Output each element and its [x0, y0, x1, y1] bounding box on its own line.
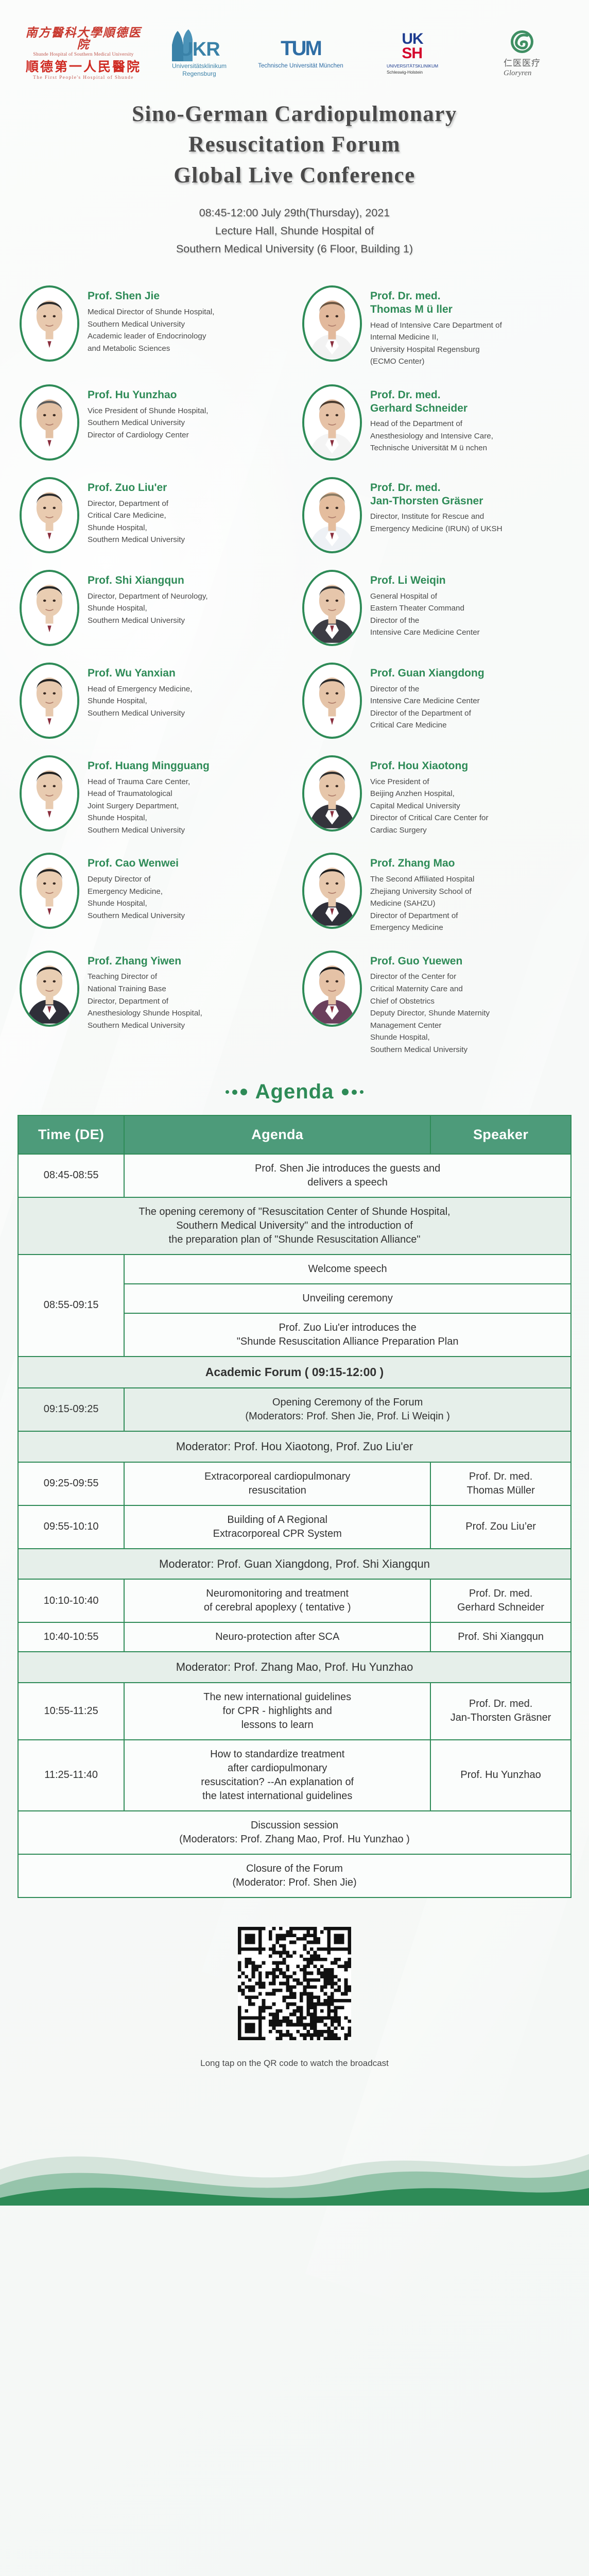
speaker-affiliation: The Second Affiliated Hospital Zhejiang …	[370, 873, 576, 934]
agenda-full-text: Closure of the Forum (Moderator: Prof. S…	[18, 1854, 571, 1897]
agenda-row-speaker: Prof. Hu Yunzhao	[430, 1740, 571, 1811]
ukr-logo: UKR Universitätsklinikum Regensburg	[161, 29, 238, 78]
speaker-card: Prof. Li WeiqinGeneral Hospital of Easte…	[302, 565, 576, 657]
agenda-row-time: 10:40-10:55	[18, 1622, 124, 1652]
speaker-card: Prof. Guan XiangdongDirector of the Inte…	[302, 657, 576, 750]
speaker-card: Prof. Zhang YiwenTeaching Director of Na…	[20, 945, 293, 1067]
agenda-heading: Agenda	[0, 1067, 589, 1115]
agenda-col-time: Time (DE)	[18, 1115, 124, 1154]
speaker-info: Prof. Hu YunzhaoVice President of Shunde…	[88, 384, 293, 441]
agenda-row-topic: Extracorporeal cardiopulmonary resuscita…	[124, 1462, 430, 1505]
speaker-avatar	[20, 853, 79, 929]
qr-section: Long tap on the QR code to watch the bro…	[0, 1898, 589, 2074]
conference-poster: 南方醫科大學順德医院 Shunde Hospital of Southern M…	[0, 0, 589, 2576]
speaker-info: Prof. Dr. med. Gerhard SchneiderHead of …	[370, 384, 576, 454]
agenda-full-row: Closure of the Forum (Moderator: Prof. S…	[18, 1854, 571, 1897]
agenda-row: 09:55-10:10Building of A Regional Extrac…	[18, 1505, 571, 1549]
agenda-row: 09:15-09:25Opening Ceremony of the Forum…	[18, 1388, 571, 1431]
uksh-logo-words: UNIVERSITÄTSKLINIKUM Schleswig-Holstein	[387, 63, 438, 75]
agenda-section-title: Academic Forum ( 09:15-12:00 )	[18, 1357, 571, 1388]
ukr-logo-subtitle: Universitätsklinikum Regensburg	[172, 62, 227, 78]
agenda-moderator-row: Moderator: Prof. Hou Xiaotong, Prof. Zuo…	[18, 1431, 571, 1462]
event-venue-line1: Lecture Hall, Shunde Hospital of	[15, 222, 574, 240]
speaker-info: Prof. Li WeiqinGeneral Hospital of Easte…	[370, 570, 576, 639]
speaker-name: Prof. Zhang Yiwen	[88, 955, 293, 968]
poster-title: Sino-German Cardiopulmonary Resuscitatio…	[0, 90, 589, 191]
speaker-affiliation: Director, Department of Neurology, Shund…	[88, 590, 293, 627]
gloryren-swirl-icon	[510, 29, 534, 54]
agenda-full-text: The opening ceremony of "Resuscitation C…	[18, 1197, 571, 1255]
sponsor-logo-bar: 南方醫科大學順德医院 Shunde Hospital of Southern M…	[0, 0, 589, 90]
speaker-avatar	[20, 663, 79, 739]
agenda-row-time: 10:10-10:40	[18, 1579, 124, 1622]
speaker-affiliation: Deputy Director of Emergency Medicine, S…	[88, 873, 293, 922]
agenda-row-speaker: Prof. Dr. med. Jan-Thorsten Gräsner	[430, 1683, 571, 1740]
agenda-row-topic: Neuro-protection after SCA	[124, 1622, 430, 1652]
speaker-name: Prof. Guo Yuewen	[370, 955, 576, 968]
agenda-row: 11:25-11:40How to standardize treatment …	[18, 1740, 571, 1811]
title-line-3: Global Live Conference	[15, 160, 574, 191]
agenda-row-topic: Opening Ceremony of the Forum (Moderator…	[124, 1388, 571, 1431]
speaker-card: Prof. Hou XiaotongVice President of Beij…	[302, 750, 576, 848]
speaker-avatar	[20, 570, 79, 646]
agenda-row-topic: Welcome speech	[124, 1255, 571, 1284]
agenda-row-speaker: Prof. Dr. med. Gerhard Schneider	[430, 1579, 571, 1622]
agenda-group-row: 08:55-09:15Welcome speech	[18, 1255, 571, 1284]
speaker-avatar	[302, 384, 362, 461]
speaker-affiliation: Head of the Department of Anesthesiology…	[370, 418, 576, 454]
agenda-row-speaker: Prof. Dr. med. Thomas Müller	[430, 1462, 571, 1505]
agenda-moderator-text: Moderator: Prof. Hou Xiaotong, Prof. Zuo…	[18, 1431, 571, 1462]
tum-logo-subtitle: Technische Universität München	[258, 63, 343, 69]
agenda-row: 10:10-10:40Neuromonitoring and treatment…	[18, 1579, 571, 1622]
speaker-affiliation: Director of the Intensive Care Medicine …	[370, 683, 576, 732]
uksh-logo-word1: UNIVERSITÄTSKLINIKUM	[387, 63, 438, 69]
agenda-section-row: Academic Forum ( 09:15-12:00 )	[18, 1357, 571, 1388]
agenda-dots-right-icon	[342, 1089, 363, 1095]
event-venue-line2: Southern Medical University (6 Floor, Bu…	[15, 240, 574, 258]
agenda-full-text: Discussion session (Moderators: Prof. Zh…	[18, 1811, 571, 1854]
agenda-row: 10:55-11:25The new international guideli…	[18, 1683, 571, 1740]
speaker-affiliation: Vice President of Shunde Hospital, South…	[88, 405, 293, 442]
speaker-affiliation: Director, Institute for Rescue and Emerg…	[370, 511, 576, 535]
tum-logo: TUM Technische Universität München	[255, 38, 346, 69]
uksh-logo-letters: UK SH	[402, 32, 423, 60]
speaker-avatar	[302, 951, 362, 1027]
speaker-name: Prof. Hou Xiaotong	[370, 759, 576, 773]
speaker-grid: Prof. Shen JieMedical Director of Shunde…	[0, 262, 589, 1067]
speaker-name: Prof. Hu Yunzhao	[88, 388, 293, 402]
agenda-row-time: 09:25-09:55	[18, 1462, 124, 1505]
speaker-affiliation: Vice President of Beijing Anzhen Hospita…	[370, 776, 576, 837]
speaker-info: Prof. Shi XiangqunDirector, Department o…	[88, 570, 293, 626]
speaker-affiliation: Teaching Director of National Training B…	[88, 971, 293, 1031]
speaker-info: Prof. Guo YuewenDirector of the Center f…	[370, 951, 576, 1056]
speaker-avatar	[20, 384, 79, 461]
agenda-moderator-row: Moderator: Prof. Zhang Mao, Prof. Hu Yun…	[18, 1652, 571, 1683]
agenda-row-topic: Unveiling ceremony	[124, 1284, 571, 1313]
speaker-avatar	[20, 477, 79, 553]
agenda-row-speaker: Prof. Shi Xiangqun	[430, 1622, 571, 1652]
speaker-name: Prof. Dr. med. Thomas M ü ller	[370, 290, 576, 316]
speaker-name: Prof. Dr. med. Gerhard Schneider	[370, 388, 576, 415]
agenda-row: 09:25-09:55Extracorporeal cardiopulmonar…	[18, 1462, 571, 1505]
agenda-row-time: 09:15-09:25	[18, 1388, 124, 1431]
speaker-name: Prof. Shi Xiangqun	[88, 574, 293, 587]
speaker-name: Prof. Zuo Liu'er	[88, 481, 293, 495]
title-line-1: Sino-German Cardiopulmonary	[15, 99, 574, 129]
speaker-name: Prof. Huang Mingguang	[88, 759, 293, 773]
agenda-header-row: Time (DE) Agenda Speaker	[18, 1115, 571, 1154]
speaker-affiliation: Head of Emergency Medicine, Shunde Hospi…	[88, 683, 293, 720]
smu-logo-chinese-line1: 南方醫科大學順德医院	[24, 27, 143, 50]
agenda-table: Time (DE) Agenda Speaker 08:45-08:55Prof…	[18, 1115, 571, 1898]
speaker-avatar	[302, 477, 362, 553]
speaker-avatar	[302, 570, 362, 646]
speaker-info: Prof. Hou XiaotongVice President of Beij…	[370, 755, 576, 836]
uksh-logo-sh: SH	[402, 46, 423, 61]
agenda-moderator-row: Moderator: Prof. Guan Xiangdong, Prof. S…	[18, 1549, 571, 1580]
speaker-info: Prof. Guan XiangdongDirector of the Inte…	[370, 663, 576, 732]
event-datetime: 08:45-12:00 July 29th(Thursday), 2021	[15, 204, 574, 222]
uksh-logo-uk: UK	[402, 32, 423, 46]
agenda-table-body: 08:45-08:55Prof. Shen Jie introduces the…	[18, 1154, 571, 1897]
agenda-row-topic: The new international guidelines for CPR…	[124, 1683, 430, 1740]
speaker-card: Prof. Huang MingguangHead of Trauma Care…	[20, 750, 293, 848]
ukr-logo-letters: UKR	[161, 39, 238, 61]
speaker-card: Prof. Zhang MaoThe Second Affiliated Hos…	[302, 848, 576, 945]
event-meta: 08:45-12:00 July 29th(Thursday), 2021 Le…	[0, 191, 589, 262]
speaker-info: Prof. Shen JieMedical Director of Shunde…	[88, 285, 293, 354]
speaker-avatar	[20, 755, 79, 832]
agenda-row-topic: Neuromonitoring and treatment of cerebra…	[124, 1579, 430, 1622]
speaker-affiliation: Director, Department of Critical Care Me…	[88, 498, 293, 546]
speaker-affiliation: Head of Trauma Care Center, Head of Trau…	[88, 776, 293, 837]
gloryren-logo-chinese: 仁医医疗	[504, 58, 541, 69]
shunde-hospital-smu-logo: 南方醫科大學順德医院 Shunde Hospital of Southern M…	[24, 27, 143, 80]
uksh-logo: UK SH UNIVERSITÄTSKLINIKUM Schleswig-Hol…	[363, 32, 461, 75]
speaker-name: Prof. Li Weiqin	[370, 574, 576, 587]
agenda-row-speaker: Prof. Zou Liu’er	[430, 1505, 571, 1549]
speaker-name: Prof. Shen Jie	[88, 290, 293, 303]
agenda-row-topic: Prof. Shen Jie introduces the guests and…	[124, 1154, 571, 1197]
ukr-logo-mark: UKR	[161, 29, 238, 61]
speaker-affiliation: Head of Intensive Care Department of Int…	[370, 319, 576, 368]
speaker-name: Prof. Zhang Mao	[370, 857, 576, 870]
agenda-row-time: 08:55-09:15	[18, 1255, 124, 1357]
smu-logo-english-line2: The First People's Hospital of Shunde	[33, 76, 134, 81]
agenda-moderator-text: Moderator: Prof. Zhang Mao, Prof. Hu Yun…	[18, 1652, 571, 1683]
speaker-name: Prof. Guan Xiangdong	[370, 667, 576, 680]
speaker-name: Prof. Cao Wenwei	[88, 857, 293, 870]
speaker-name: Prof. Wu Yanxian	[88, 667, 293, 680]
speaker-info: Prof. Wu YanxianHead of Emergency Medici…	[88, 663, 293, 719]
speaker-card: Prof. Dr. med. Thomas M ü llerHead of In…	[302, 280, 576, 379]
agenda-table-wrap: Time (DE) Agenda Speaker 08:45-08:55Prof…	[0, 1115, 589, 1898]
speaker-affiliation: Medical Director of Shunde Hospital, Sou…	[88, 306, 293, 354]
agenda-dots-left-icon	[226, 1089, 247, 1095]
agenda-moderator-text: Moderator: Prof. Guan Xiangdong, Prof. S…	[18, 1549, 571, 1580]
smu-logo-chinese-line2: 順德第一人民醫院	[26, 61, 141, 74]
agenda-row-topic: Building of A Regional Extracorporeal CP…	[124, 1505, 430, 1549]
speaker-card: Prof. Dr. med. Jan-Thorsten GräsnerDirec…	[302, 472, 576, 565]
gloryren-logo-english: Gloryren	[504, 69, 541, 78]
title-line-2: Resuscitation Forum	[15, 129, 574, 160]
speaker-info: Prof. Zhang MaoThe Second Affiliated Hos…	[370, 853, 576, 934]
speaker-info: Prof. Dr. med. Thomas M ü llerHead of In…	[370, 285, 576, 367]
agenda-row: 10:40-10:55Neuro-protection after SCAPro…	[18, 1622, 571, 1652]
agenda-row-time: 08:45-08:55	[18, 1154, 124, 1197]
speaker-card: Prof. Hu YunzhaoVice President of Shunde…	[20, 379, 293, 472]
agenda-table-head: Time (DE) Agenda Speaker	[18, 1115, 571, 1154]
speaker-name: Prof. Dr. med. Jan-Thorsten Gräsner	[370, 481, 576, 507]
speaker-avatar	[302, 853, 362, 929]
speaker-card: Prof. Zuo Liu'erDirector, Department of …	[20, 472, 293, 565]
uksh-logo-word2: Schleswig-Holstein	[387, 70, 438, 75]
agenda-row-topic: How to standardize treatment after cardi…	[124, 1740, 430, 1811]
speaker-avatar	[20, 951, 79, 1027]
speaker-info: Prof. Dr. med. Jan-Thorsten GräsnerDirec…	[370, 477, 576, 535]
speaker-avatar	[302, 285, 362, 362]
speaker-card: Prof. Shen JieMedical Director of Shunde…	[20, 280, 293, 379]
speaker-card: Prof. Guo YuewenDirector of the Center f…	[302, 945, 576, 1067]
tum-logo-letters: TUM	[281, 38, 321, 59]
speaker-card: Prof. Cao WenweiDeputy Director of Emerg…	[20, 848, 293, 945]
speaker-info: Prof. Zhang YiwenTeaching Director of Na…	[88, 951, 293, 1031]
gloryren-logo-text: 仁医医疗 Gloryren	[504, 58, 541, 78]
agenda-col-agenda: Agenda	[124, 1115, 430, 1154]
agenda-row-topic: Prof. Zuo Liu'er introduces the "Shunde …	[124, 1313, 571, 1357]
gloryren-logo: 仁医医疗 Gloryren	[479, 29, 565, 78]
speaker-info: Prof. Huang MingguangHead of Trauma Care…	[88, 755, 293, 836]
speaker-card: Prof. Dr. med. Gerhard SchneiderHead of …	[302, 379, 576, 472]
agenda-col-speaker: Speaker	[430, 1115, 571, 1154]
speaker-affiliation: General Hospital of Eastern Theater Comm…	[370, 590, 576, 639]
smu-logo-english-line1: Shunde Hospital of Southern Medical Univ…	[33, 53, 133, 58]
speaker-avatar	[302, 663, 362, 739]
agenda-row: 08:45-08:55Prof. Shen Jie introduces the…	[18, 1154, 571, 1197]
agenda-full-row: The opening ceremony of "Resuscitation C…	[18, 1197, 571, 1255]
speaker-avatar	[302, 755, 362, 832]
speaker-info: Prof. Cao WenweiDeputy Director of Emerg…	[88, 853, 293, 922]
agenda-row-time: 09:55-10:10	[18, 1505, 124, 1549]
agenda-full-row: Discussion session (Moderators: Prof. Zh…	[18, 1811, 571, 1854]
qr-caption: Long tap on the QR code to watch the bro…	[0, 2043, 589, 2069]
speaker-avatar	[20, 285, 79, 362]
speaker-card: Prof. Wu YanxianHead of Emergency Medici…	[20, 657, 293, 750]
agenda-row-time: 10:55-11:25	[18, 1683, 124, 1740]
speaker-info: Prof. Zuo Liu'erDirector, Department of …	[88, 477, 293, 546]
agenda-heading-label: Agenda	[255, 1080, 334, 1104]
speaker-card: Prof. Shi XiangqunDirector, Department o…	[20, 565, 293, 657]
speaker-affiliation: Director of the Center for Critical Mate…	[370, 971, 576, 1056]
agenda-row-time: 11:25-11:40	[18, 1740, 124, 1811]
broadcast-qr-code[interactable]	[238, 1927, 351, 2040]
footer-wave-decoration	[0, 2092, 589, 2206]
